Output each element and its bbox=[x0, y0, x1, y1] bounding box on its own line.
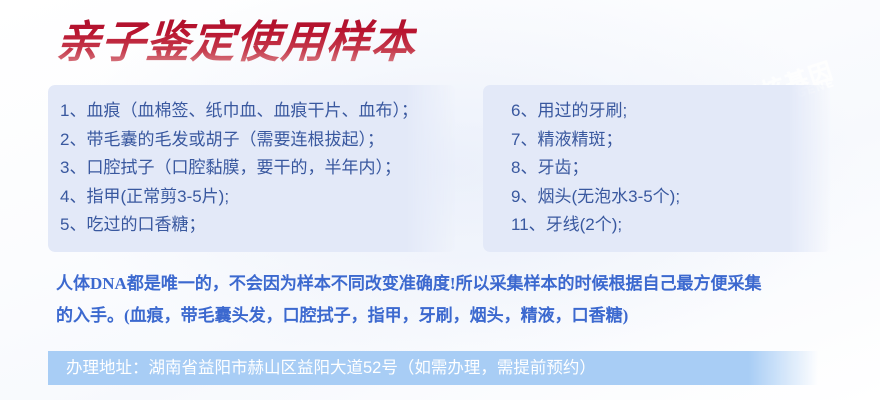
list-item: 11、牙线(2个); bbox=[511, 211, 827, 240]
list-item: 6、用过的牙刷; bbox=[511, 97, 827, 126]
list-item: 1、血痕（血棉签、纸巾血、血痕干片、血布）； bbox=[60, 97, 452, 126]
page-title: 亲子鉴定使用样本 bbox=[54, 14, 418, 72]
note-line-2: 的入手。(血痕，带毛囊头发，口腔拭子，指甲，牙刷，烟头，精液，口香糖) bbox=[56, 300, 856, 332]
sample-list-right: 6、用过的牙刷; 7、精液精斑； 8、牙齿； 9、烟头(无泡水3-5个); 11… bbox=[511, 97, 827, 240]
explanatory-note: 人体DNA都是唯一的，不会因为样本不同改变准确度!所以采集样本的时候根据自己最方… bbox=[56, 268, 856, 332]
address-banner-text: 办理地址：湖南省益阳市赫山区益阳大道52号（如需办理，需提前预约） bbox=[66, 355, 596, 381]
list-item: 5、吃过的口香糖； bbox=[60, 211, 452, 240]
list-item: 7、精液精斑； bbox=[511, 126, 827, 155]
sample-list-left: 1、血痕（血棉签、纸巾血、血痕干片、血布）； 2、带毛囊的毛发或胡子（需要连根拔… bbox=[60, 97, 452, 240]
list-item: 8、牙齿； bbox=[511, 154, 827, 183]
list-item: 9、烟头(无泡水3-5个); bbox=[511, 183, 827, 212]
list-item: 3、口腔拭子（口腔黏膜，要干的，半年内）； bbox=[60, 154, 452, 183]
list-item: 4、指甲(正常剪3-5片); bbox=[60, 183, 452, 212]
sample-list-right-panel: 6、用过的牙刷; 7、精液精斑； 8、牙齿； 9、烟头(无泡水3-5个); 11… bbox=[483, 85, 831, 252]
note-line-1: 人体DNA都是唯一的，不会因为样本不同改变准确度!所以采集样本的时候根据自己最方… bbox=[56, 268, 856, 300]
infographic-page: 万核基因 WAN HE GENE 万核基因 WAN HE GENE 万核基因 W… bbox=[0, 0, 880, 400]
list-item: 2、带毛囊的毛发或胡子（需要连根拔起）； bbox=[60, 126, 452, 155]
sample-list-left-panel: 1、血痕（血棉签、纸巾血、血痕干片、血布）； 2、带毛囊的毛发或胡子（需要连根拔… bbox=[48, 85, 456, 252]
